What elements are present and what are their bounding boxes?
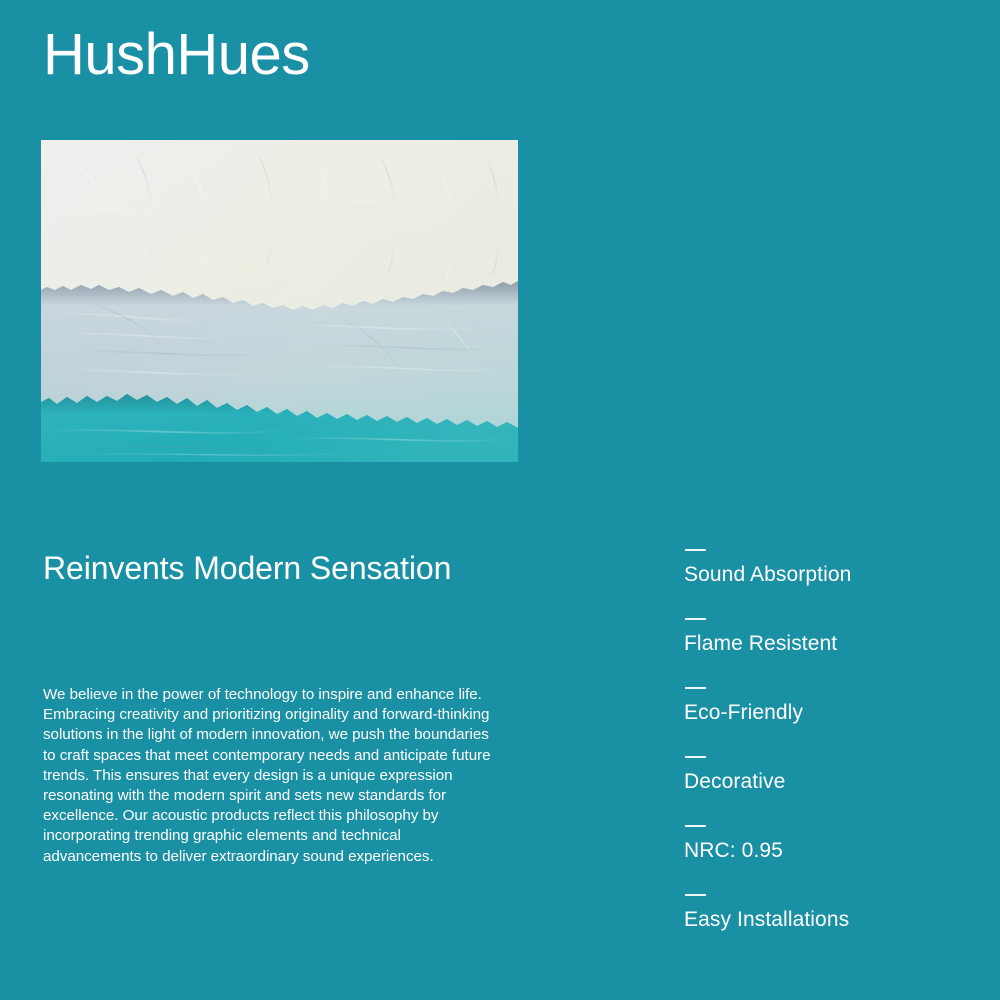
- abstract-painting-image: [41, 140, 518, 462]
- feature-item-decorative: Decorative: [684, 756, 974, 819]
- feature-label: Decorative: [684, 770, 974, 793]
- feature-item-sound-absorption: Sound Absorption: [684, 549, 974, 612]
- feature-list: Sound Absorption Flame Resistent Eco-Fri…: [684, 543, 974, 957]
- feature-item-flame-resistent: Flame Resistent: [684, 618, 974, 681]
- dash-divider-icon: [685, 687, 706, 689]
- hero-artwork: [41, 140, 518, 462]
- feature-label: Sound Absorption: [684, 563, 974, 586]
- dash-divider-icon: [685, 894, 706, 896]
- feature-label: Eco-Friendly: [684, 701, 974, 724]
- dash-divider-icon: [685, 756, 706, 758]
- dash-divider-icon: [685, 618, 706, 620]
- dash-divider-icon: [685, 549, 706, 551]
- section-headline: Reinvents Modern Sensation: [43, 548, 463, 589]
- feature-label: NRC: 0.95: [684, 839, 974, 862]
- dash-divider-icon: [685, 825, 706, 827]
- feature-item-nrc: NRC: 0.95: [684, 825, 974, 888]
- feature-item-easy-installations: Easy Installations: [684, 894, 974, 957]
- feature-item-eco-friendly: Eco-Friendly: [684, 687, 974, 750]
- feature-label: Flame Resistent: [684, 632, 974, 655]
- page-title: HushHues: [43, 22, 310, 89]
- feature-label: Easy Installations: [684, 908, 974, 931]
- about-paragraph: We believe in the power of technology to…: [43, 685, 495, 867]
